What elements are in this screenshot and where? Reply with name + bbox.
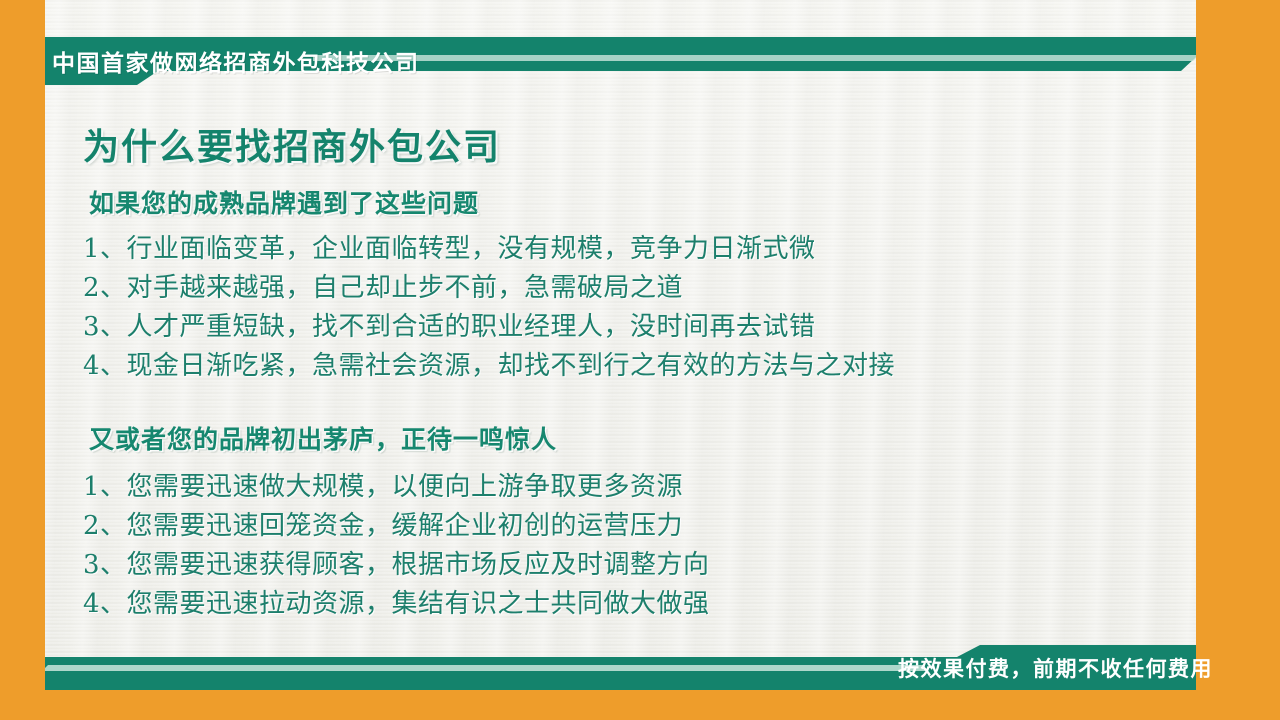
problem-list: 1、行业面临变革，企业面临转型，没有规模，竞争力日渐式微 2、对手越来越强，自己…	[83, 230, 895, 386]
slide-root: 中国首家做网络招商外包科技公司 为什么要找招商外包公司 如果您的成熟品牌遇到了这…	[0, 0, 1280, 720]
section-heading-1: 如果您的成熟品牌遇到了这些问题	[89, 184, 479, 220]
list-item: 2、您需要迅速回笼资金，缓解企业初创的运营压力	[83, 507, 710, 546]
footer-note: 按效果付费，前期不收任何费用	[815, 651, 1235, 685]
list-item: 4、您需要迅速拉动资源，集结有识之士共同做大做强	[83, 585, 710, 624]
section-heading-2: 又或者您的品牌初出茅庐，正待一鸣惊人	[89, 420, 557, 456]
list-item: 1、行业面临变革，企业面临转型，没有规模，竞争力日渐式微	[83, 230, 895, 269]
header-tagline: 中国首家做网络招商外包科技公司	[45, 41, 565, 81]
page-title: 为什么要找招商外包公司	[83, 118, 501, 170]
list-item: 3、您需要迅速获得顾客，根据市场反应及时调整方向	[83, 546, 710, 585]
list-item: 4、现金日渐吃紧，急需社会资源，却找不到行之有效的方法与之对接	[83, 347, 895, 386]
list-item: 1、您需要迅速做大规模，以便向上游争取更多资源	[83, 468, 710, 507]
list-item: 3、人才严重短缺，找不到合适的职业经理人，没时间再去试错	[83, 308, 895, 347]
list-item: 2、对手越来越强，自己却止步不前，急需破局之道	[83, 269, 895, 308]
startup-need-list: 1、您需要迅速做大规模，以便向上游争取更多资源 2、您需要迅速回笼资金，缓解企业…	[83, 468, 710, 624]
content-area: 为什么要找招商外包公司 如果您的成熟品牌遇到了这些问题 1、行业面临变革，企业面…	[45, 100, 1196, 640]
